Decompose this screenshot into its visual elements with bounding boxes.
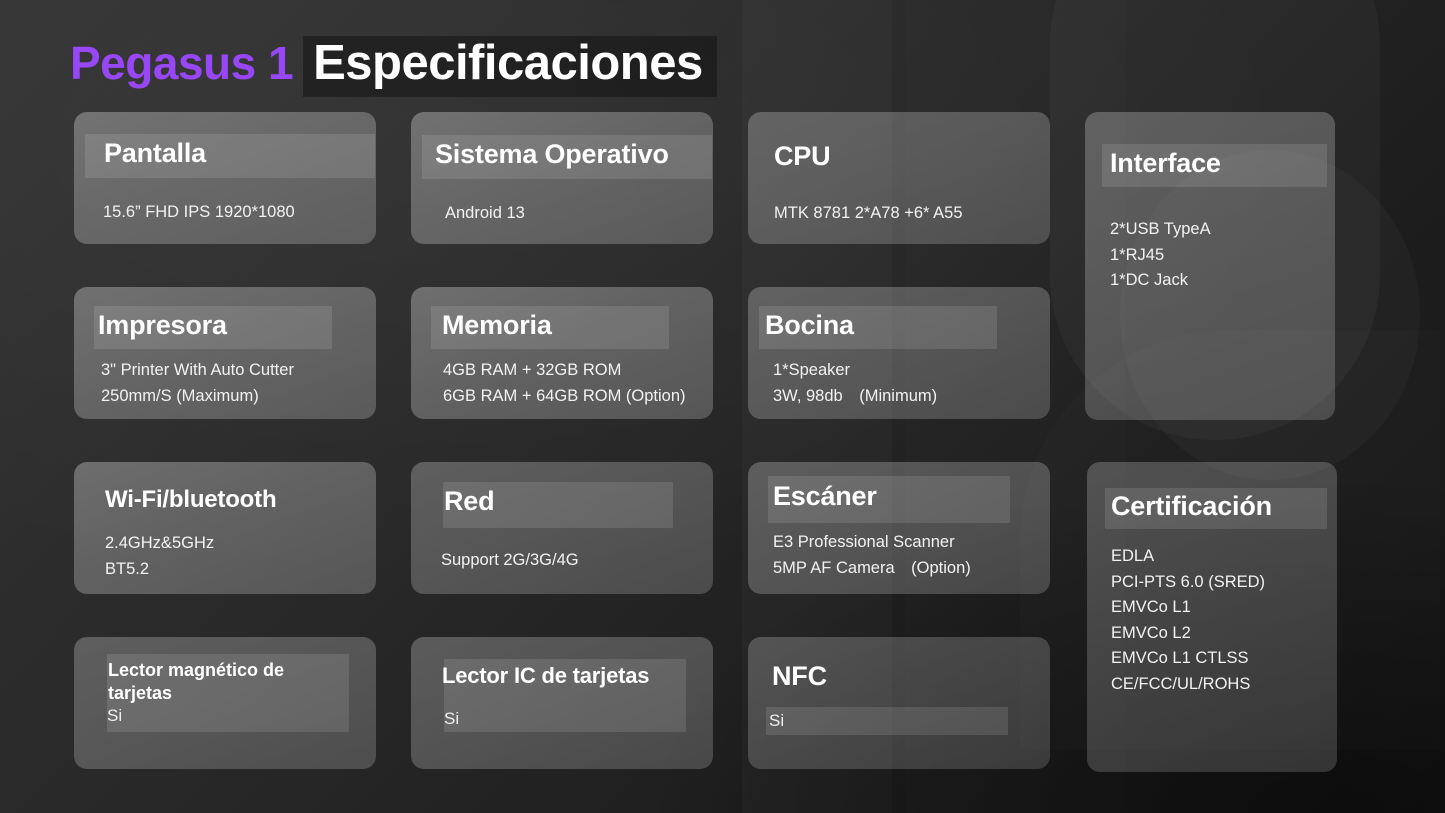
spec-card-values: 15.6” FHD IPS 1920*1080 (103, 198, 295, 226)
spec-value: Support 2G/3G/4G (441, 546, 579, 574)
spec-card-heading: Certificación (1111, 491, 1337, 522)
page-title: Pegasus 1 Especificaciones (70, 36, 717, 97)
spec-card-values: Support 2G/3G/4G (441, 546, 579, 574)
spec-card-values: Si (444, 706, 459, 732)
spec-value: Si (769, 708, 784, 734)
spec-value: 2.4GHz&5GHz (105, 531, 214, 557)
spec-card-heading: Lector magnético de tarjetas (108, 659, 298, 705)
spec-card-impresora[interactable]: Impresora 3" Printer With Auto Cutter 25… (74, 287, 376, 419)
spec-value: 5MP AF Camera (Option) (773, 556, 971, 582)
spec-card-nfc[interactable]: NFC Si (748, 637, 1050, 769)
spec-card-certificacion[interactable]: Certificación EDLA PCI-PTS 6.0 (SRED) EM… (1087, 462, 1337, 772)
spec-value: PCI-PTS 6.0 (SRED) (1111, 570, 1265, 596)
spec-card-heading: Bocina (765, 310, 1050, 341)
spec-card-sistema-operativo[interactable]: Sistema Operativo Android 13 (411, 112, 713, 244)
spec-value: E3 Professional Scanner (773, 530, 971, 556)
spec-card-values: 1*Speaker 3W, 98db (Minimum) (773, 358, 937, 409)
value-highlight (766, 707, 1008, 735)
spec-value: Si (107, 703, 122, 729)
spec-card-heading: Pantalla (104, 138, 376, 169)
spec-card-lector-ic[interactable]: Lector IC de tarjetas Si (411, 637, 713, 769)
page-title-brand: Pegasus 1 (70, 36, 303, 90)
spec-card-interface[interactable]: Interface 2*USB TypeA 1*RJ45 1*DC Jack (1085, 112, 1335, 420)
spec-card-values: EDLA PCI-PTS 6.0 (SRED) EMVCo L1 EMVCo L… (1111, 544, 1265, 697)
spec-card-red[interactable]: Red Support 2G/3G/4G (411, 462, 713, 594)
spec-card-values: MTK 8781 2*A78 +6* A55 (774, 199, 963, 227)
spec-card-memoria[interactable]: Memoria 4GB RAM + 32GB ROM 6GB RAM + 64G… (411, 287, 713, 419)
spec-value: 3W, 98db (Minimum) (773, 384, 937, 410)
spec-card-cpu[interactable]: CPU MTK 8781 2*A78 +6* A55 (748, 112, 1050, 244)
spec-sheet-page: Pegasus 1 Especificaciones Pantalla 15.6… (0, 0, 1445, 813)
spec-card-values: E3 Professional Scanner 5MP AF Camera (O… (773, 530, 971, 581)
spec-value: 2*USB TypeA (1110, 217, 1211, 243)
spec-value: 15.6” FHD IPS 1920*1080 (103, 198, 295, 226)
spec-card-heading: Interface (1110, 148, 1335, 179)
spec-value: EMVCo L2 (1111, 621, 1265, 647)
spec-card-heading: Red (444, 486, 713, 517)
spec-value: EDLA (1111, 544, 1265, 570)
spec-value: EMVCo L1 CTLSS (1111, 646, 1265, 672)
spec-card-lector-magnetico[interactable]: Lector magnético de tarjetas Si (74, 637, 376, 769)
spec-card-heading: Memoria (442, 310, 713, 341)
spec-value: EMVCo L1 (1111, 595, 1265, 621)
spec-card-bocina[interactable]: Bocina 1*Speaker 3W, 98db (Minimum) (748, 287, 1050, 419)
spec-card-heading: Escáner (773, 481, 1050, 512)
spec-card-pantalla[interactable]: Pantalla 15.6” FHD IPS 1920*1080 (74, 112, 376, 244)
spec-value: 1*DC Jack (1110, 268, 1211, 294)
spec-card-values: Android 13 (445, 199, 525, 227)
spec-card-values: 4GB RAM + 32GB ROM 6GB RAM + 64GB ROM (O… (443, 358, 686, 409)
spec-value: CE/FCC/UL/ROHS (1111, 672, 1265, 698)
spec-value: 1*RJ45 (1110, 243, 1211, 269)
spec-value: 3" Printer With Auto Cutter (101, 358, 294, 384)
spec-card-values: 2*USB TypeA 1*RJ45 1*DC Jack (1110, 217, 1211, 294)
spec-card-heading: Impresora (98, 310, 376, 341)
spec-card-values: 2.4GHz&5GHz BT5.2 (105, 531, 214, 582)
spec-value: BT5.2 (105, 557, 214, 583)
spec-value: 6GB RAM + 64GB ROM (Option) (443, 384, 686, 410)
spec-card-heading: CPU (774, 141, 1050, 172)
spec-card-heading: NFC (772, 661, 1050, 692)
spec-value: Android 13 (445, 199, 525, 227)
spec-value: 4GB RAM + 32GB ROM (443, 358, 686, 384)
spec-card-values: Si (107, 703, 122, 729)
spec-card-wifi-bluetooth[interactable]: Wi-Fi/bluetooth 2.4GHz&5GHz BT5.2 (74, 462, 376, 594)
spec-card-heading: Lector IC de tarjetas (442, 663, 713, 689)
spec-card-escaner[interactable]: Escáner E3 Professional Scanner 5MP AF C… (748, 462, 1050, 594)
spec-card-heading: Wi-Fi/bluetooth (105, 486, 376, 514)
page-title-main: Especificaciones (303, 36, 717, 97)
spec-value: MTK 8781 2*A78 +6* A55 (774, 199, 963, 227)
spec-value: 250mm/S (Maximum) (101, 384, 294, 410)
spec-card-values: 3" Printer With Auto Cutter 250mm/S (Max… (101, 358, 294, 409)
spec-value: Si (444, 706, 459, 732)
spec-value: 1*Speaker (773, 358, 937, 384)
spec-card-values: Si (769, 708, 784, 734)
spec-card-heading: Sistema Operativo (435, 139, 713, 170)
